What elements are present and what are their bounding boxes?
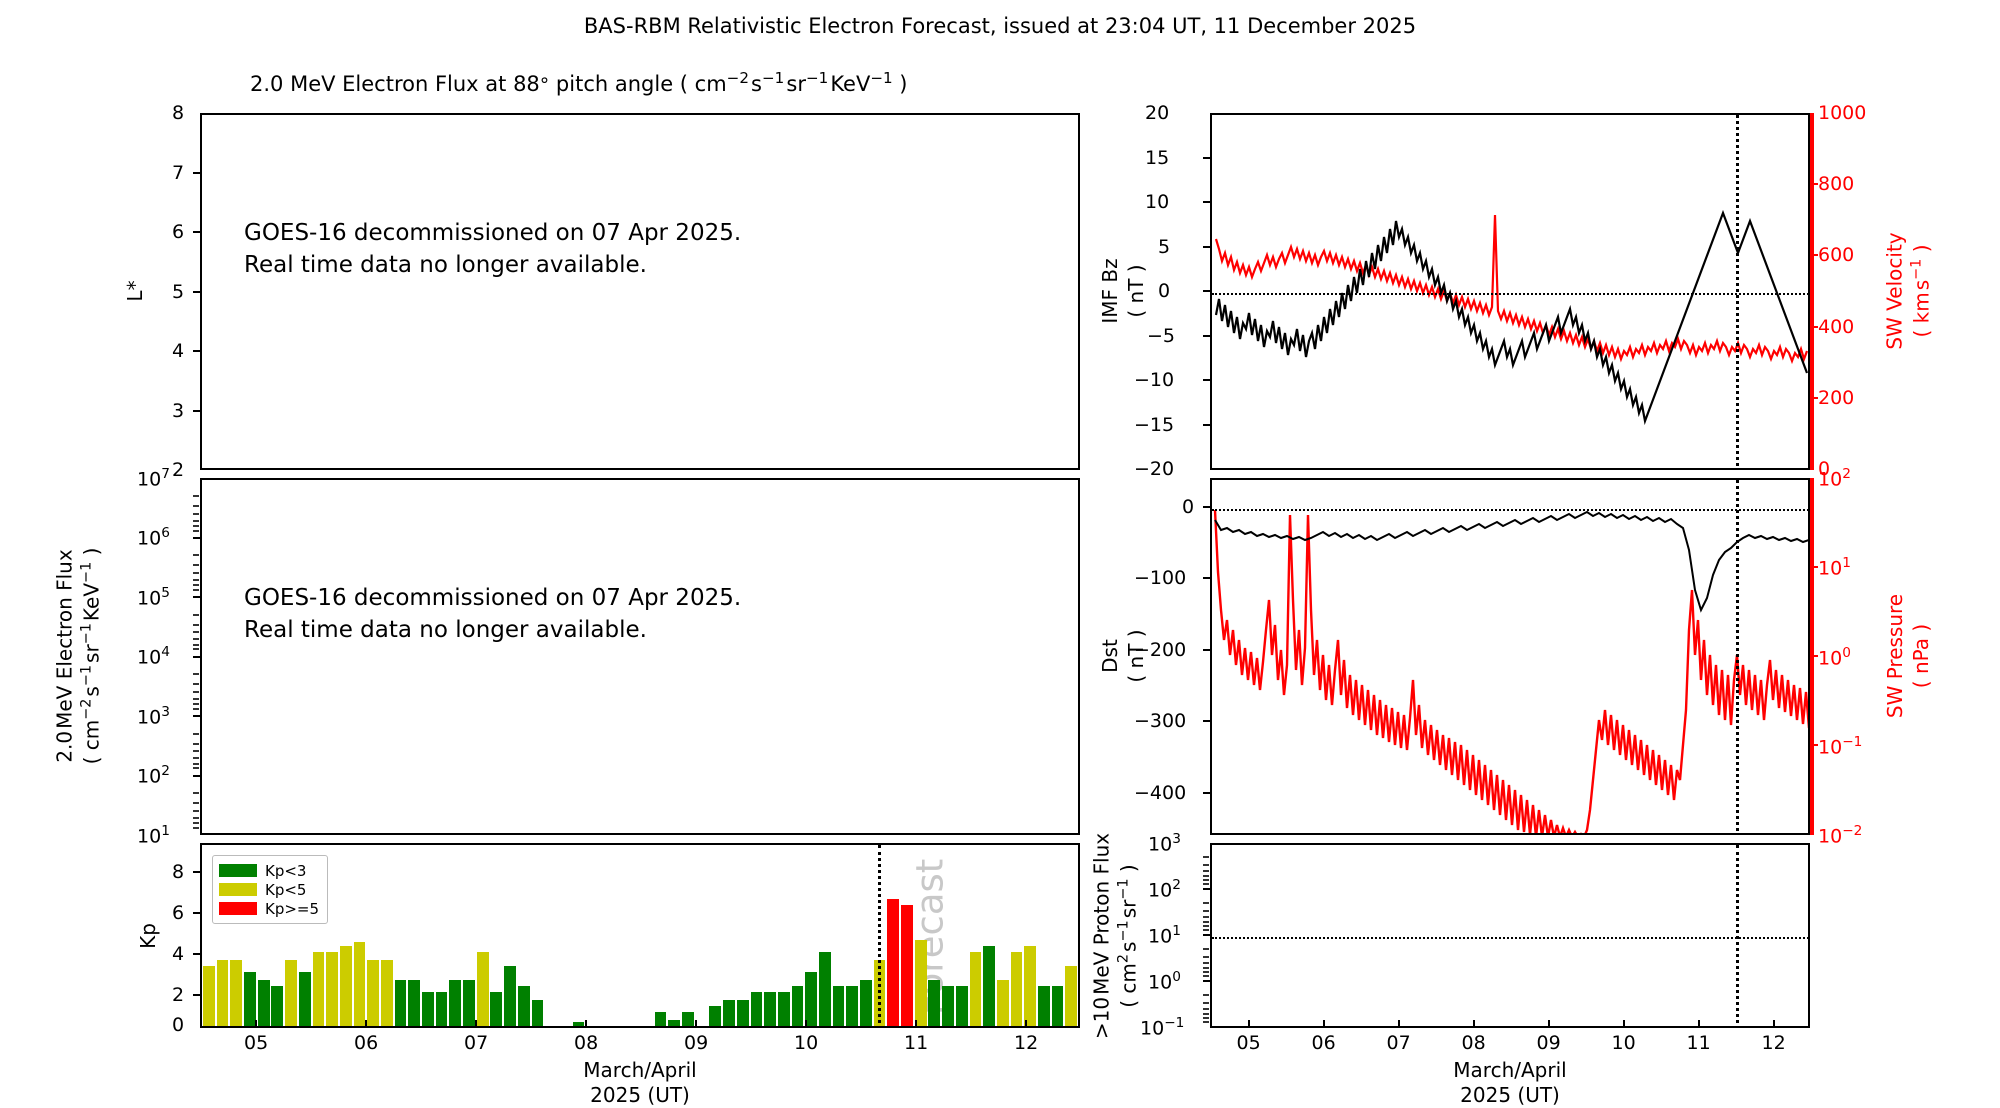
x-tick-mark: [1698, 1020, 1700, 1028]
swpress-ytick-1e0: 100: [1818, 645, 1851, 669]
kp-bar: [737, 1000, 749, 1026]
kp-y-axis-label: Kp: [136, 923, 160, 949]
kp-bar: [928, 980, 940, 1026]
x-tick-mark: [695, 1020, 697, 1028]
sw-pressure-y-axis-label: SW Pressure( nPa ): [1882, 594, 1934, 718]
proton-flux-x-axis-label: March/April 2025 (UT): [1310, 1058, 1710, 1108]
eflux-ytick-1e6: 106: [137, 525, 170, 549]
kp-bar: [203, 966, 215, 1026]
lstar-ytick-6: 6: [172, 221, 184, 243]
x-tick-mark: [1473, 1020, 1475, 1028]
kp-bar: [751, 992, 763, 1026]
x-tick-mark: [1548, 1020, 1550, 1028]
x-tick-label: 10: [794, 1032, 818, 1054]
kp-bar: [504, 966, 516, 1026]
kp-bar: [1011, 952, 1023, 1026]
kp-bar: [408, 980, 420, 1026]
x-tick-label: 08: [1462, 1032, 1486, 1054]
swpress-ytick-1em1: 10−1: [1818, 734, 1862, 758]
kp-ytick-8: 8: [172, 861, 184, 883]
kp-bar: [449, 980, 461, 1026]
eflux-minor-ticks: [193, 478, 199, 835]
lstar-ytick-3: 3: [172, 400, 184, 422]
imfbz-ytick-m20: −20: [1134, 458, 1174, 480]
imfbz-ytick-m5: −5: [1147, 325, 1175, 347]
lstar-ytick-4: 4: [172, 340, 184, 362]
imfbz-ytick-5: 5: [1158, 236, 1170, 258]
x-tick-label: 06: [1312, 1032, 1336, 1054]
swvel-ytick-1000: 1000: [1818, 102, 1866, 124]
dst-ytick-m200: −200: [1134, 639, 1186, 661]
dst-plot-area: [1210, 478, 1810, 835]
kp-bar: [846, 986, 858, 1026]
imfbz-ytick-20: 20: [1145, 102, 1169, 124]
kp-bar: [436, 992, 448, 1026]
kp-bar: [1065, 966, 1077, 1026]
eflux-ytick-1e5: 105: [137, 585, 170, 609]
kp-bar: [244, 972, 256, 1026]
kp-bar: [792, 986, 804, 1026]
x-tick-mark: [1323, 1020, 1325, 1028]
x-tick-label: 11: [904, 1032, 928, 1054]
kp-bar: [983, 946, 995, 1026]
kp-legend: Kp<3 Kp<5 Kp>=5: [212, 855, 328, 924]
kp-bar: [764, 992, 776, 1026]
pflux-minor-ticks: [1203, 843, 1209, 1028]
kp-bar: [819, 952, 831, 1026]
swvel-ytick-400: 400: [1818, 316, 1854, 338]
x-tick-label: 07: [464, 1032, 488, 1054]
pflux-ytick-1e3: 103: [1148, 831, 1181, 855]
kp-legend-swatch-high: [219, 902, 257, 915]
imf-bz-plot-area: [1210, 113, 1810, 470]
kp-bar-series: [202, 845, 1078, 1026]
eflux-ytick-1e2: 102: [137, 763, 170, 787]
x-tick-label: 05: [244, 1032, 268, 1054]
kp-bar: [395, 980, 407, 1026]
kp-bar: [901, 905, 913, 1026]
x-tick-mark: [915, 1020, 917, 1028]
x-tick-mark: [805, 1020, 807, 1028]
dst-zero-line: [1212, 509, 1810, 511]
x-tick-label: 07: [1387, 1032, 1411, 1054]
lstar-ytick-5: 5: [172, 281, 184, 303]
figure-title: BAS-RBM Relativistic Electron Forecast, …: [0, 14, 2000, 38]
kp-bar: [354, 942, 366, 1026]
kp-bar: [655, 1012, 667, 1026]
kp-bar: [997, 980, 1009, 1026]
lstar-plot-area: GOES-16 decommissioned on 07 Apr 2025. R…: [200, 113, 1080, 470]
x-tick-label: 12: [1014, 1032, 1038, 1054]
x-tick-label: 12: [1762, 1032, 1786, 1054]
x-tick-mark: [475, 1020, 477, 1028]
eflux-ytick-1e1: 101: [137, 823, 170, 847]
kp-legend-row: Kp>=5: [219, 899, 319, 918]
proton-flux-plot-area: [1210, 843, 1810, 1028]
eflux-ytick-1e3: 103: [137, 704, 170, 728]
swpress-ytick-1e1: 101: [1818, 555, 1851, 579]
kp-bar: [271, 986, 283, 1026]
dst-ytick-0: 0: [1182, 496, 1194, 518]
kp-bar: [887, 899, 899, 1026]
imf-bz-zero-line: [1212, 293, 1810, 295]
kp-ytick-0: 0: [172, 1014, 184, 1036]
proton-flux-y-axis-label: >10 MeV Proton Flux ( cm2 s−1 sr−1 ): [1089, 833, 1142, 1039]
kp-bar: [956, 986, 968, 1026]
x-tick-mark: [365, 1020, 367, 1028]
kp-plot-area: Forecast: [200, 843, 1080, 1028]
kp-bar: [709, 1006, 721, 1026]
imfbz-ytick-15: 15: [1145, 147, 1169, 169]
x-tick-label: 11: [1687, 1032, 1711, 1054]
lstar-ytick-7: 7: [172, 162, 184, 184]
kp-bar: [217, 960, 229, 1026]
kp-legend-row: Kp<3: [219, 861, 319, 880]
imfbz-ytick-m10: −10: [1134, 369, 1174, 391]
kp-bar: [367, 960, 379, 1026]
pflux-ytick-1em1: 10−1: [1140, 1015, 1184, 1039]
kp-bar: [422, 992, 434, 1026]
kp-bar: [532, 1000, 544, 1026]
kp-bar: [723, 1000, 735, 1026]
imfbz-ytick-10: 10: [1145, 191, 1169, 213]
x-tick-mark: [1248, 1020, 1250, 1028]
kp-bar: [1052, 986, 1064, 1026]
kp-bar: [1038, 986, 1050, 1026]
kp-legend-label-high: Kp>=5: [265, 900, 319, 918]
x-tick-mark: [585, 1020, 587, 1028]
kp-bar: [1024, 946, 1036, 1026]
proton-flux-forecast-divider: [1736, 845, 1739, 1028]
dst-ytick-m100: −100: [1134, 567, 1186, 589]
kp-legend-swatch-low: [219, 864, 257, 877]
dst-sw-pressure-series: [1212, 480, 1810, 835]
swvel-ytick-600: 600: [1818, 244, 1854, 266]
kp-bar: [805, 972, 817, 1026]
kp-bar: [573, 1022, 585, 1026]
dst-ytick-m400: −400: [1134, 782, 1186, 804]
imfbz-ytick-0: 0: [1158, 280, 1170, 302]
x-tick-mark: [1773, 1020, 1775, 1028]
kp-bar: [942, 986, 954, 1026]
sw-velocity-y-axis-label: SW Velocity( km s−1 ): [1882, 232, 1935, 349]
kp-legend-row: Kp<5: [219, 880, 319, 899]
kp-bar: [326, 952, 338, 1026]
kp-bar: [230, 960, 242, 1026]
lstar-panel-title: 2.0 MeV Electron Flux at 88° pitch angle…: [250, 69, 908, 96]
kp-bar: [381, 960, 393, 1026]
imfbz-ytick-m15: −15: [1134, 414, 1174, 436]
pflux-ytick-1e0: 100: [1148, 969, 1181, 993]
proton-flux-threshold-line: [1212, 937, 1810, 939]
x-tick-label: 06: [354, 1032, 378, 1054]
kp-bar: [778, 992, 790, 1026]
kp-bar: [258, 980, 270, 1026]
lstar-y-axis-label: L*: [123, 280, 147, 301]
pflux-ytick-1e2: 102: [1148, 877, 1181, 901]
kp-ytick-4: 4: [172, 943, 184, 965]
kp-bar: [833, 986, 845, 1026]
kp-bar: [313, 952, 325, 1026]
kp-bar: [668, 1020, 680, 1026]
kp-bar: [860, 980, 872, 1026]
kp-bar: [299, 972, 311, 1026]
kp-ytick-2: 2: [172, 984, 184, 1006]
swpress-ytick-1em2: 10−2: [1818, 823, 1862, 847]
kp-bar: [340, 946, 352, 1026]
swpress-ytick-1e2: 102: [1818, 466, 1851, 490]
electron-flux-y-axis-label: 2.0 MeV Electron Flux ( cm−2 s−1 sr−1 Ke…: [52, 548, 105, 765]
eflux-ytick-1e4: 104: [137, 644, 170, 668]
forecast-figure: BAS-RBM Relativistic Electron Forecast, …: [0, 0, 2000, 1100]
imf-bz-y-axis-label: IMF Bz( nT ): [1097, 258, 1149, 323]
x-tick-mark: [255, 1020, 257, 1028]
kp-bar: [518, 986, 530, 1026]
x-tick-mark: [1398, 1020, 1400, 1028]
x-tick-mark: [1025, 1020, 1027, 1028]
pflux-ytick-1e1: 101: [1148, 923, 1181, 947]
kp-legend-label-mid: Kp<5: [265, 881, 306, 899]
kp-x-axis-label: March/April 2025 (UT): [440, 1058, 840, 1108]
dst-ytick-m300: −300: [1134, 710, 1186, 732]
kp-ytick-6: 6: [172, 902, 184, 924]
kp-legend-label-low: Kp<3: [265, 862, 306, 880]
x-tick-mark: [1623, 1020, 1625, 1028]
kp-bar: [285, 960, 297, 1026]
x-tick-label: 10: [1612, 1032, 1636, 1054]
kp-bar: [915, 940, 927, 1026]
x-tick-label: 08: [574, 1032, 598, 1054]
imf-bz-forecast-divider: [1736, 115, 1739, 470]
kp-bar: [477, 952, 489, 1026]
dst-forecast-divider: [1736, 480, 1739, 835]
x-tick-label: 05: [1237, 1032, 1261, 1054]
lstar-ytick-8: 8: [172, 102, 184, 124]
swvel-ytick-800: 800: [1818, 173, 1854, 195]
eflux-ytick-1e7: 107: [137, 466, 170, 490]
kp-forecast-divider: [878, 845, 881, 1028]
kp-legend-swatch-mid: [219, 883, 257, 896]
lstar-no-data-message: GOES-16 decommissioned on 07 Apr 2025. R…: [244, 218, 741, 281]
lstar-ytick-2: 2: [172, 459, 184, 481]
kp-bar: [970, 952, 982, 1026]
x-tick-label: 09: [684, 1032, 708, 1054]
kp-bar: [490, 992, 502, 1026]
kp-bar: [463, 980, 475, 1026]
kp-bar: [682, 1012, 694, 1026]
electron-flux-no-data-message: GOES-16 decommissioned on 07 Apr 2025. R…: [244, 583, 741, 646]
electron-flux-plot-area: GOES-16 decommissioned on 07 Apr 2025. R…: [200, 478, 1080, 835]
swvel-ytick-200: 200: [1818, 387, 1854, 409]
x-tick-label: 09: [1537, 1032, 1561, 1054]
